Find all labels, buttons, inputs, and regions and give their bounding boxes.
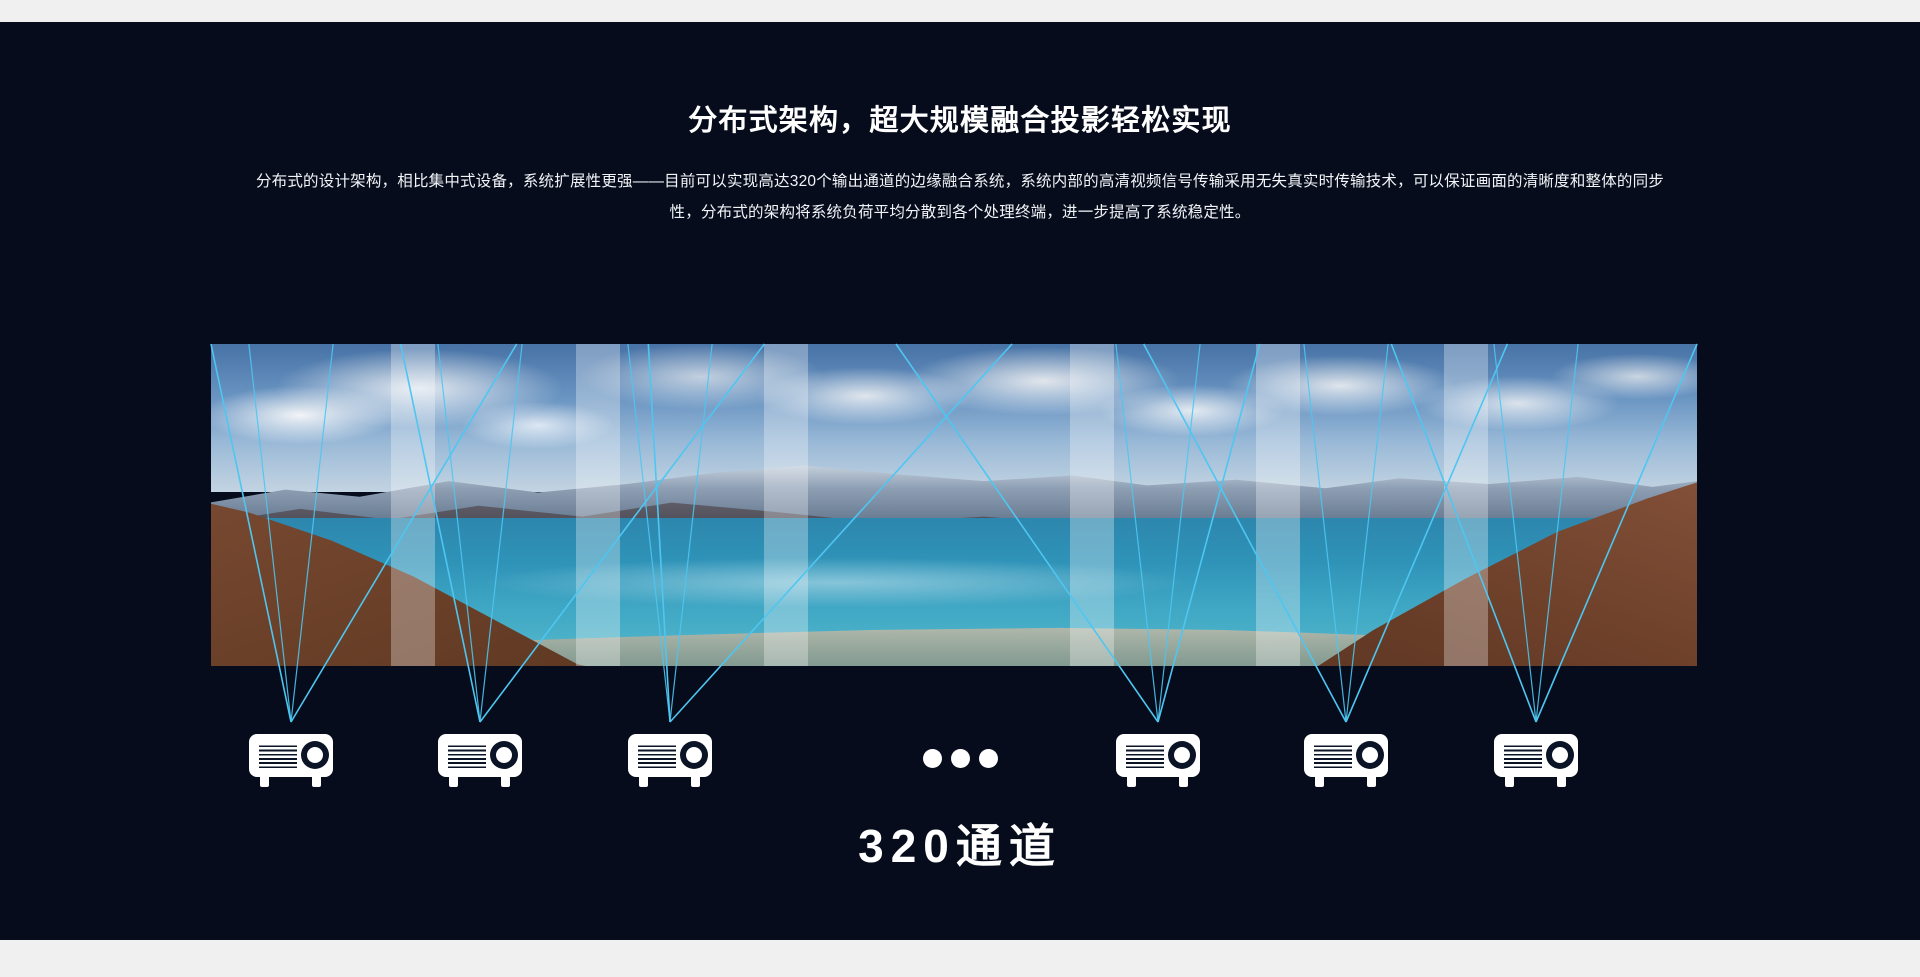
projector-leg	[1557, 776, 1566, 787]
ellipsis-dot	[923, 749, 942, 768]
page-root: 分布式架构，超大规模融合投影轻松实现 分布式的设计架构，相比集中式设备，系统扩展…	[0, 0, 1920, 977]
projector-leg	[312, 776, 321, 787]
feature-section: 分布式架构，超大规模融合投影轻松实现 分布式的设计架构，相比集中式设备，系统扩展…	[0, 22, 1920, 940]
projector-lens-icon	[301, 741, 329, 769]
projector-leg	[1367, 776, 1376, 787]
projector-lens-icon	[1546, 741, 1574, 769]
projector-vents	[1126, 743, 1164, 768]
ellipsis-dot	[951, 749, 970, 768]
section-description: 分布式的设计架构，相比集中式设备，系统扩展性更强——目前可以实现高达320个输出…	[250, 166, 1670, 228]
image-overlay	[211, 344, 1697, 666]
projector-vents	[638, 743, 676, 768]
channel-count-label: 320通道	[0, 810, 1920, 876]
projector-1	[249, 734, 333, 788]
projector-6	[1494, 734, 1578, 788]
projector-5	[1304, 734, 1388, 788]
projector-leg	[501, 776, 510, 787]
projector-vents	[1314, 743, 1352, 768]
page-title: 分布式架构，超大规模融合投影轻松实现	[0, 97, 1920, 139]
projector-lens-icon	[680, 741, 708, 769]
projector-leg	[1179, 776, 1188, 787]
projector-vents	[1504, 743, 1542, 768]
projector-leg	[449, 776, 458, 787]
more-projectors-ellipsis	[923, 749, 997, 769]
top-spacer	[0, 0, 1920, 22]
projector-4	[1116, 734, 1200, 788]
projector-lens-icon	[490, 741, 518, 769]
projector-leg	[260, 776, 269, 787]
projector-2	[438, 734, 522, 788]
panorama-image	[211, 344, 1697, 666]
bottom-spacer	[0, 940, 1920, 977]
projector-3	[628, 734, 712, 788]
projector-vents	[259, 743, 297, 768]
projector-leg	[1127, 776, 1136, 787]
projector-lens-icon	[1356, 741, 1384, 769]
projector-vents	[448, 743, 486, 768]
projector-leg	[1505, 776, 1514, 787]
projector-leg	[1315, 776, 1324, 787]
projector-lens-icon	[1168, 741, 1196, 769]
projector-leg	[639, 776, 648, 787]
ellipsis-dot	[979, 749, 998, 768]
projector-leg	[691, 776, 700, 787]
projection-screen	[211, 344, 1697, 666]
